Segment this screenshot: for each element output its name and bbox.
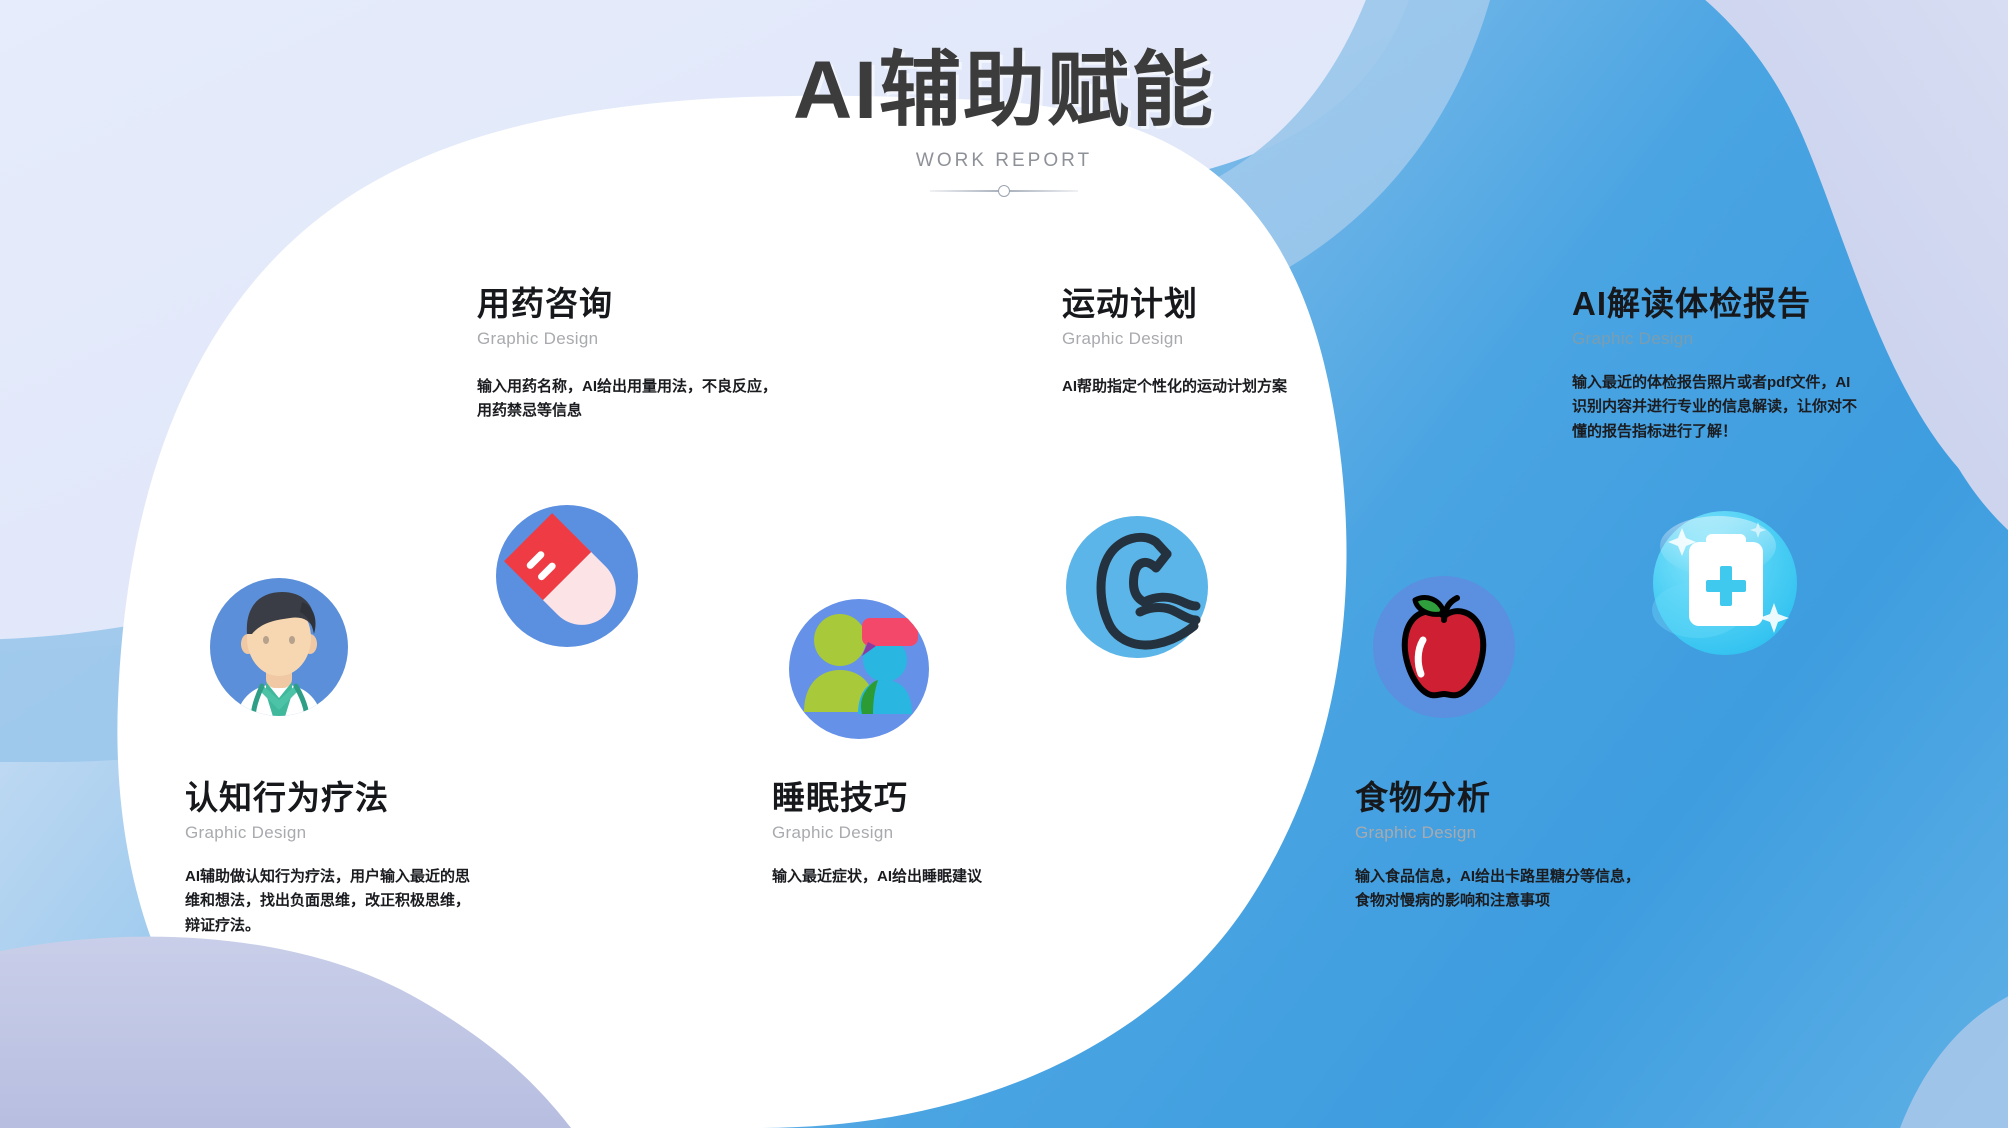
feature-title: AI解读体检报告 bbox=[1572, 286, 1857, 323]
feature-description-line: 识别内容并进行专业的信息解读，让你对不 bbox=[1572, 395, 1857, 419]
feature-subtitle: Graphic Design bbox=[477, 329, 777, 349]
feature-block-sleep-tips[interactable]: 睡眠技巧 Graphic Design 输入最近症状，AI给出睡眠建议 bbox=[772, 780, 982, 889]
feature-description: 输入用药名称，AI给出用量用法，不良反应， 用药禁忌等信息 bbox=[477, 375, 777, 424]
slide-header: AI辅助赋能 WORK REPORT bbox=[0, 48, 2008, 198]
feature-description-line: AI帮助指定个性化的运动计划方案 bbox=[1062, 375, 1287, 399]
doctor-avatar-icon bbox=[190, 558, 368, 736]
icon-two-people-chat[interactable] bbox=[770, 580, 948, 763]
feature-description-line: AI辅助做认知行为疗法，用户输入最近的思 bbox=[185, 865, 470, 889]
feature-block-exercise-plan[interactable]: 运动计划 Graphic Design AI帮助指定个性化的运动计划方案 bbox=[1062, 286, 1287, 399]
icon-flexed-bicep[interactable] bbox=[1048, 498, 1226, 681]
feature-subtitle: Graphic Design bbox=[185, 823, 470, 843]
icon-pill[interactable] bbox=[478, 487, 656, 670]
flexed-bicep-icon bbox=[1048, 498, 1226, 676]
feature-description-line: 输入食品信息，AI给出卡路里糖分等信息， bbox=[1355, 865, 1640, 889]
feature-description-line: 用药禁忌等信息 bbox=[477, 399, 777, 423]
feature-block-medication-consult[interactable]: 用药咨询 Graphic Design 输入用药名称，AI给出用量用法，不良反应… bbox=[477, 286, 777, 424]
feature-title: 睡眠技巧 bbox=[772, 780, 982, 817]
feature-description-line: 食物对慢病的影响和注意事项 bbox=[1355, 889, 1640, 913]
page-title: AI辅助赋能 bbox=[0, 48, 2008, 134]
feature-title: 认知行为疗法 bbox=[185, 780, 470, 817]
icon-doctor-avatar[interactable] bbox=[190, 558, 368, 741]
feature-block-ai-health-report[interactable]: AI解读体检报告 Graphic Design 输入最近的体检报告照片或者pdf… bbox=[1572, 286, 1857, 444]
icon-medical-clipboard[interactable] bbox=[1636, 494, 1814, 677]
feature-description-line: 懂的报告指标进行了解！ bbox=[1572, 420, 1857, 444]
pill-icon bbox=[478, 487, 656, 665]
slide-canvas: AI辅助赋能 WORK REPORT 用药咨询 Graphic Design 输… bbox=[0, 0, 2008, 1128]
header-divider bbox=[930, 184, 1078, 198]
medical-clipboard-icon bbox=[1636, 494, 1814, 672]
page-subtitle: WORK REPORT bbox=[0, 150, 2008, 172]
icon-red-apple[interactable] bbox=[1355, 558, 1533, 741]
feature-block-cognitive-behavioral-therapy[interactable]: 认知行为疗法 Graphic Design AI辅助做认知行为疗法，用户输入最近… bbox=[185, 780, 470, 938]
feature-description: AI帮助指定个性化的运动计划方案 bbox=[1062, 375, 1287, 399]
feature-description-line: 维和想法，找出负面思维，改正积极思维， bbox=[185, 889, 470, 913]
feature-description-line: 辩证疗法。 bbox=[185, 914, 470, 938]
feature-subtitle: Graphic Design bbox=[1355, 823, 1640, 843]
feature-subtitle: Graphic Design bbox=[1572, 329, 1857, 349]
feature-subtitle: Graphic Design bbox=[1062, 329, 1287, 349]
two-people-chat-icon bbox=[770, 580, 948, 758]
feature-description: 输入最近症状，AI给出睡眠建议 bbox=[772, 865, 982, 889]
feature-block-food-analysis[interactable]: 食物分析 Graphic Design 输入食品信息，AI给出卡路里糖分等信息，… bbox=[1355, 780, 1640, 914]
feature-description-line: 输入最近的体检报告照片或者pdf文件，AI bbox=[1572, 371, 1857, 395]
divider-dot-icon bbox=[998, 185, 1010, 197]
feature-title: 食物分析 bbox=[1355, 780, 1640, 817]
feature-description: 输入最近的体检报告照片或者pdf文件，AI 识别内容并进行专业的信息解读，让你对… bbox=[1572, 371, 1857, 444]
feature-description: AI辅助做认知行为疗法，用户输入最近的思 维和想法，找出负面思维，改正积极思维，… bbox=[185, 865, 470, 938]
feature-subtitle: Graphic Design bbox=[772, 823, 982, 843]
feature-description-line: 输入最近症状，AI给出睡眠建议 bbox=[772, 865, 982, 889]
feature-title: 运动计划 bbox=[1062, 286, 1287, 323]
feature-description: 输入食品信息，AI给出卡路里糖分等信息， 食物对慢病的影响和注意事项 bbox=[1355, 865, 1640, 914]
feature-title: 用药咨询 bbox=[477, 286, 777, 323]
red-apple-icon bbox=[1355, 558, 1533, 736]
feature-description-line: 输入用药名称，AI给出用量用法，不良反应， bbox=[477, 375, 777, 399]
